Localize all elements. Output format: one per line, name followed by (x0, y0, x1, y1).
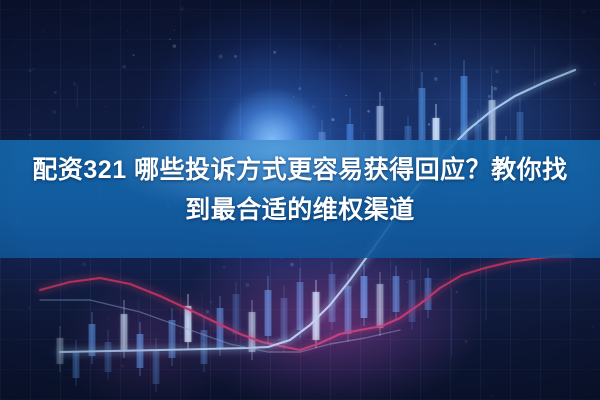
banner-image: 配资321 哪些投诉方式更容易获得回应？教你找 到最合适的维权渠道 (0, 0, 600, 400)
title-line-2: 到最合适的维权渠道 (14, 190, 586, 230)
banner-title: 配资321 哪些投诉方式更容易获得回应？教你找 到最合适的维权渠道 (0, 150, 600, 230)
title-line-1: 配资321 哪些投诉方式更容易获得回应？教你找 (14, 150, 586, 190)
